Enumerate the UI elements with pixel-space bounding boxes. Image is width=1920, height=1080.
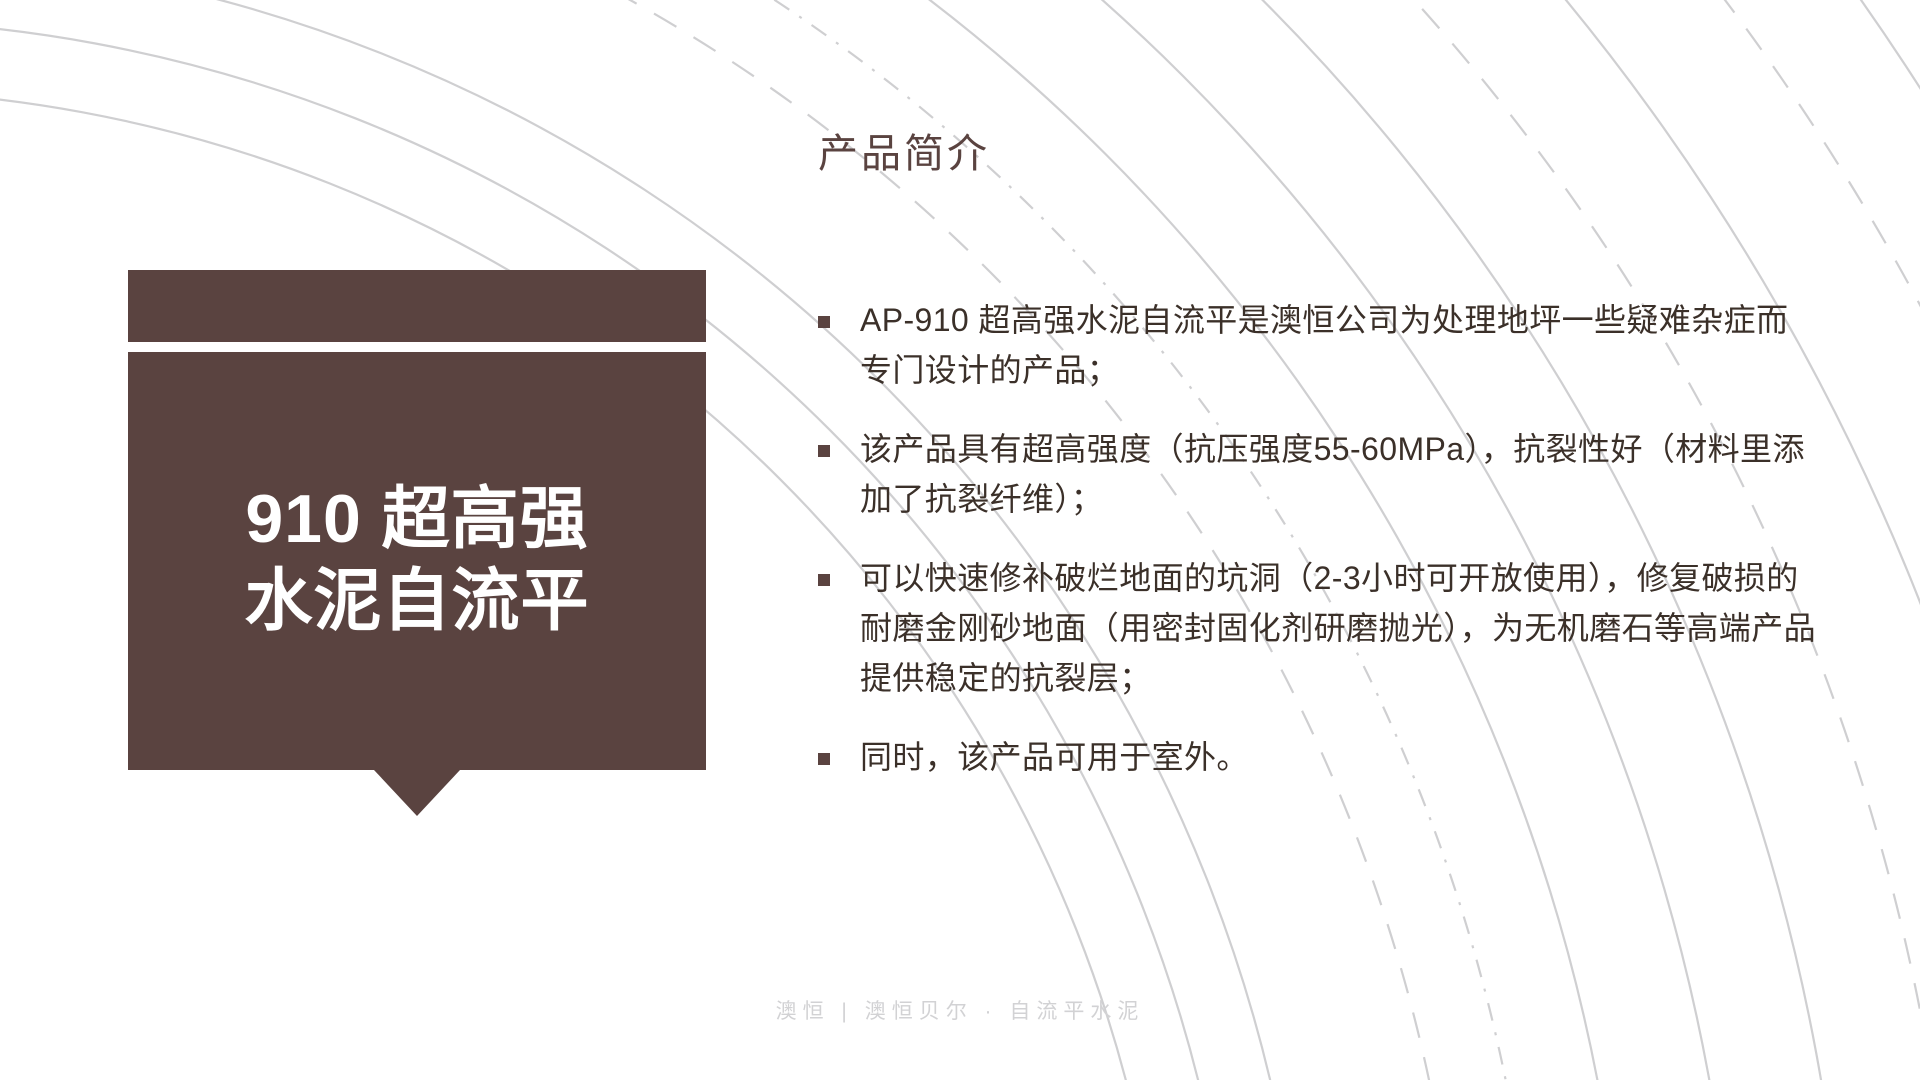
product-title-card: 910 超高强 水泥自流平	[128, 270, 706, 816]
square-bullet-icon	[818, 316, 830, 328]
list-item: 可以快速修补破烂地面的坑洞（2-3小时可开放使用），修复破损的耐磨金刚砂地面（用…	[818, 554, 1818, 703]
list-item-text: AP-910 超高强水泥自流平是澳恒公司为处理地坪一些疑难杂症而专门设计的产品；	[860, 296, 1818, 395]
square-bullet-icon	[818, 574, 830, 586]
slide-canvas: 910 超高强 水泥自流平 产品简介 AP-910 超高强水泥自流平是澳恒公司为…	[0, 0, 1920, 1080]
footer-brand-note: 澳恒 | 澳恒贝尔 · 自流平水泥	[0, 995, 1920, 1025]
card-divider-gap	[128, 342, 706, 352]
card-top-bar	[128, 270, 706, 342]
list-item-text: 同时，该产品可用于室外。	[860, 733, 1818, 783]
list-item: 同时，该产品可用于室外。	[818, 733, 1818, 783]
square-bullet-icon	[818, 753, 830, 765]
content-column: 产品简介 AP-910 超高强水泥自流平是澳恒公司为处理地坪一些疑难杂症而专门设…	[818, 130, 1818, 813]
list-item-text: 可以快速修补破烂地面的坑洞（2-3小时可开放使用），修复破损的耐磨金刚砂地面（用…	[860, 554, 1818, 703]
card-body: 910 超高强 水泥自流平	[128, 352, 706, 770]
product-description-list: AP-910 超高强水泥自流平是澳恒公司为处理地坪一些疑难杂症而专门设计的产品；…	[818, 296, 1818, 783]
section-heading: 产品简介	[818, 130, 1818, 178]
card-title: 910 超高强 水泥自流平	[244, 479, 589, 642]
square-bullet-icon	[818, 445, 830, 457]
speech-bubble-tail-icon	[374, 770, 460, 816]
list-item-text: 该产品具有超高强度（抗压强度55-60MPa），抗裂性好（材料里添加了抗裂纤维）…	[860, 425, 1818, 524]
list-item: AP-910 超高强水泥自流平是澳恒公司为处理地坪一些疑难杂症而专门设计的产品；	[818, 296, 1818, 395]
list-item: 该产品具有超高强度（抗压强度55-60MPa），抗裂性好（材料里添加了抗裂纤维）…	[818, 425, 1818, 524]
